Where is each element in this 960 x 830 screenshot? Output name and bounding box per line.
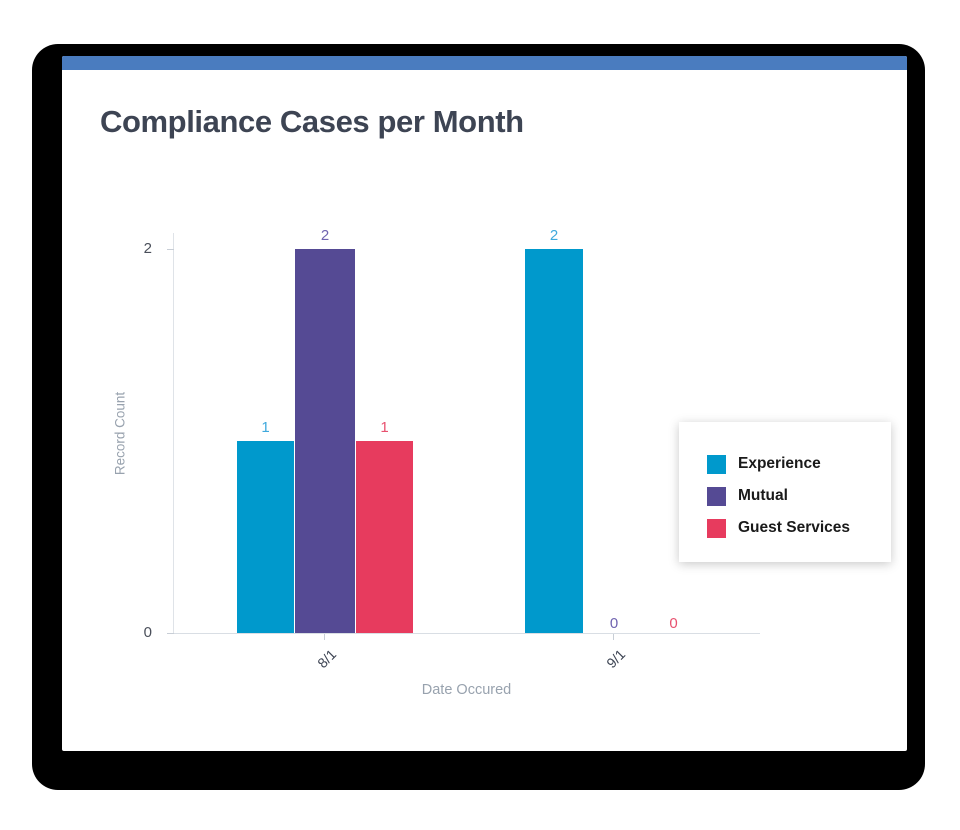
y-axis-title: Record Count [113, 364, 128, 504]
y-axis-line [173, 233, 174, 634]
bar-chart: 2 0 Record Count 8/1 9/1 Date Occured 1 … [62, 56, 907, 751]
bar-value-mutual-9-1: 0 [584, 615, 644, 632]
bar-value-experience-9-1: 2 [525, 227, 583, 244]
legend-label-mutual: Mutual [738, 487, 788, 505]
bar-value-experience-8-1: 1 [237, 419, 294, 436]
bar-experience-9-1[interactable] [525, 249, 583, 633]
bar-guest-services-8-1[interactable] [356, 441, 413, 633]
legend-items: Experience Mutual Guest Services [707, 448, 850, 544]
y-tick-label-2: 2 [112, 240, 152, 257]
legend-label-guest-services: Guest Services [738, 519, 850, 537]
y-tick-label-0: 0 [112, 624, 152, 641]
x-tick-mark-1 [613, 634, 614, 640]
x-axis-line [173, 633, 760, 634]
legend-item-guest-services[interactable]: Guest Services [707, 512, 850, 544]
chart-legend: Experience Mutual Guest Services [679, 422, 891, 562]
bar-experience-8-1[interactable] [237, 441, 294, 633]
legend-item-experience[interactable]: Experience [707, 448, 850, 480]
legend-swatch-experience [707, 455, 726, 474]
legend-swatch-mutual [707, 487, 726, 506]
legend-label-experience: Experience [738, 455, 821, 473]
bar-value-mutual-8-1: 2 [295, 227, 355, 244]
screenshot-root: Compliance Cases per Month 2 0 Record Co… [0, 0, 960, 830]
bar-value-guest-services-9-1: 0 [645, 615, 702, 632]
bar-value-guest-services-8-1: 1 [356, 419, 413, 436]
y-tick-mark-0 [167, 633, 174, 634]
x-axis-title: Date Occured [173, 682, 760, 698]
x-tick-mark-0 [324, 634, 325, 640]
y-tick-mark-2 [167, 249, 174, 250]
dashboard-card: Compliance Cases per Month 2 0 Record Co… [62, 56, 907, 751]
legend-swatch-guest-services [707, 519, 726, 538]
legend-item-mutual[interactable]: Mutual [707, 480, 850, 512]
bar-mutual-8-1[interactable] [295, 249, 355, 633]
